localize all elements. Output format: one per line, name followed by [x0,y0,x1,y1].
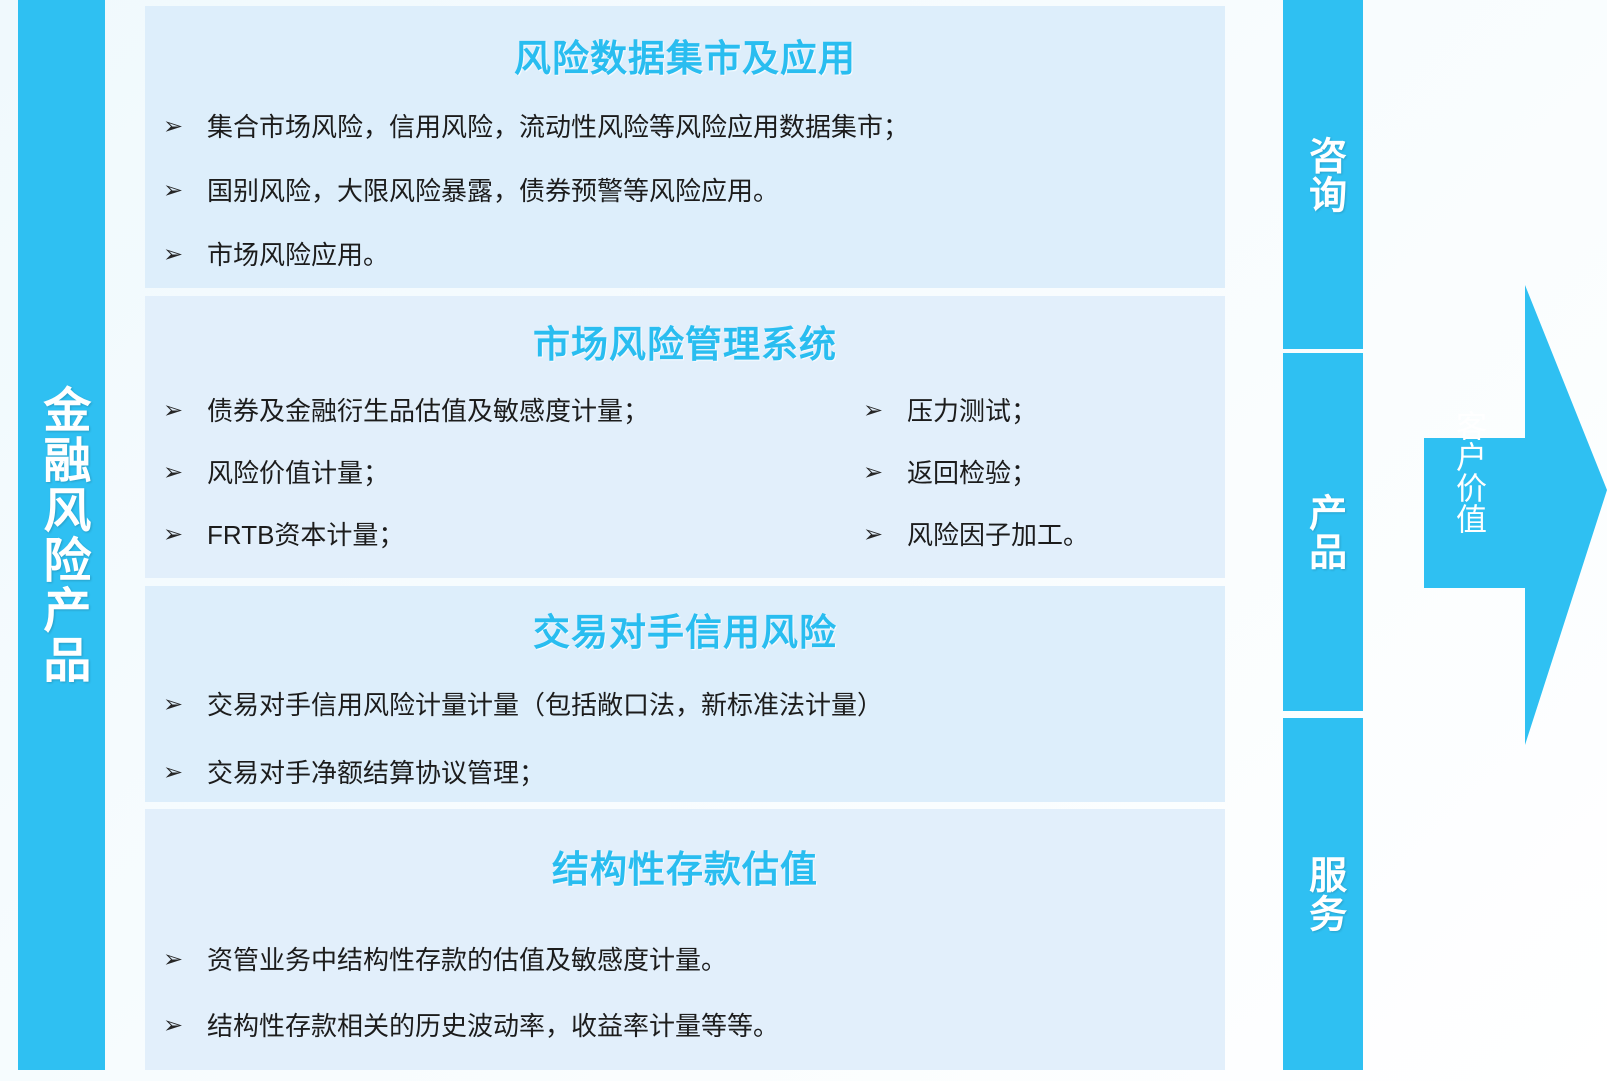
list-item[interactable]: ➢ 交易对手信用风险计量计量（包括敞口法，新标准法计量） [145,690,1225,721]
bullet-row: ➢ FRTB资本计量； ➢ 风险因子加工。 [145,520,1225,582]
bullet-row: ➢ 市场风险应用。 [145,240,1225,304]
section-title: 市场风险管理系统 [145,296,1225,368]
bullet-list: ➢ 资管业务中结构性存款的估值及敏感度计量。 ➢ 结构性存款相关的历史波动率，收… [145,945,1225,1077]
arrow-bullet-icon: ➢ [845,458,907,488]
arrow-bullet-icon: ➢ [145,176,207,206]
service-stage-service[interactable]: 服务 [1283,718,1363,1070]
left-category-bar-label: 金融风险产品 [34,385,90,685]
left-category-bar: 金融风险产品 [18,0,105,1070]
arrow-bullet-icon: ➢ [145,758,207,788]
section-panel-structured-deposit-valuation[interactable]: 结构性存款估值 ➢ 资管业务中结构性存款的估值及敏感度计量。 ➢ 结构性存款相关… [145,809,1225,1070]
bullet-list: ➢ 债券及金融衍生品估值及敏感度计量； ➢ 压力测试； ➢ 风险价值计量； ➢ [145,396,1225,582]
right-arrow-icon [1380,270,1607,760]
arrow-bullet-icon: ➢ [145,396,207,426]
list-item[interactable]: ➢ 交易对手净额结算协议管理； [145,758,1225,789]
arrow-bullet-icon: ➢ [145,520,207,550]
list-item[interactable]: ➢ 集合市场风险，信用风险，流动性风险等风险应用数据集市； [145,112,1225,143]
list-item[interactable]: ➢ FRTB资本计量； [145,520,845,551]
list-item-label: 风险因子加工。 [907,520,1225,551]
service-stage-label: 服务 [1301,855,1344,933]
list-item[interactable]: ➢ 风险因子加工。 [845,520,1225,551]
service-stage-label: 产品 [1301,493,1344,571]
slide-canvas: 金融风险产品 风险数据集市及应用 ➢ 集合市场风险，信用风险，流动性风险等风险应… [0,0,1607,1081]
section-panel-counterparty-credit-risk[interactable]: 交易对手信用风险 ➢ 交易对手信用风险计量计量（包括敞口法，新标准法计量） ➢ … [145,586,1225,802]
bullet-row: ➢ 资管业务中结构性存款的估值及敏感度计量。 [145,945,1225,1011]
arrow-bullet-icon: ➢ [845,396,907,426]
list-item-label: 压力测试； [907,396,1225,427]
service-stage-stack: 咨询 产品 服务 [1283,0,1363,1070]
list-item-label: 风险价值计量； [207,458,845,489]
bullet-row: ➢ 国别风险，大限风险暴露，债券预警等风险应用。 [145,176,1225,240]
list-item[interactable]: ➢ 返回检验； [845,458,1225,489]
section-title: 结构性存款估值 [145,809,1225,893]
section-panel-market-risk-system[interactable]: 市场风险管理系统 ➢ 债券及金融衍生品估值及敏感度计量； ➢ 压力测试； ➢ [145,296,1225,578]
bullet-list: ➢ 集合市场风险，信用风险，流动性风险等风险应用数据集市； ➢ 国别风险，大限风… [145,112,1225,304]
customer-value-arrow[interactable]: 客户价值 [1380,270,1607,760]
list-item-label: 债券及金融衍生品估值及敏感度计量； [207,396,845,427]
list-item-label: 交易对手信用风险计量计量（包括敞口法，新标准法计量） [207,690,1225,721]
list-item[interactable]: ➢ 市场风险应用。 [145,240,1225,271]
list-item-label: 结构性存款相关的历史波动率，收益率计量等等。 [207,1011,1225,1042]
list-item[interactable]: ➢ 资管业务中结构性存款的估值及敏感度计量。 [145,945,1225,976]
list-item-label: 返回检验； [907,458,1225,489]
bullet-list: ➢ 交易对手信用风险计量计量（包括敞口法，新标准法计量） ➢ 交易对手净额结算协… [145,690,1225,826]
arrow-bullet-icon: ➢ [145,690,207,720]
list-item-label: 市场风险应用。 [207,240,1225,271]
list-item[interactable]: ➢ 风险价值计量； [145,458,845,489]
list-item-label: 资管业务中结构性存款的估值及敏感度计量。 [207,945,1225,976]
bullet-row: ➢ 结构性存款相关的历史波动率，收益率计量等等。 [145,1011,1225,1077]
list-item[interactable]: ➢ 结构性存款相关的历史波动率，收益率计量等等。 [145,1011,1225,1042]
service-stage-label: 咨询 [1301,136,1344,214]
bullet-row: ➢ 债券及金融衍生品估值及敏感度计量； ➢ 压力测试； [145,396,1225,458]
service-stage-consulting[interactable]: 咨询 [1283,0,1363,349]
list-item-label: 集合市场风险，信用风险，流动性风险等风险应用数据集市； [207,112,1225,143]
list-item[interactable]: ➢ 国别风险，大限风险暴露，债券预警等风险应用。 [145,176,1225,207]
list-item-label: 交易对手净额结算协议管理； [207,758,1225,789]
section-title: 交易对手信用风险 [145,586,1225,656]
list-item-label: FRTB资本计量； [207,520,845,551]
section-panel-group: 风险数据集市及应用 ➢ 集合市场风险，信用风险，流动性风险等风险应用数据集市； … [145,6,1225,1070]
service-stage-product[interactable]: 产品 [1283,353,1363,711]
bullet-row: ➢ 交易对手信用风险计量计量（包括敞口法，新标准法计量） [145,690,1225,758]
customer-value-arrow-label: 客户价值 [1424,410,1488,534]
list-item-label: 国别风险，大限风险暴露，债券预警等风险应用。 [207,176,1225,207]
bullet-row: ➢ 集合市场风险，信用风险，流动性风险等风险应用数据集市； [145,112,1225,176]
list-item[interactable]: ➢ 压力测试； [845,396,1225,427]
arrow-bullet-icon: ➢ [145,240,207,270]
arrow-bullet-icon: ➢ [145,112,207,142]
list-item[interactable]: ➢ 债券及金融衍生品估值及敏感度计量； [145,396,845,427]
arrow-bullet-icon: ➢ [845,520,907,550]
section-panel-risk-data-mart[interactable]: 风险数据集市及应用 ➢ 集合市场风险，信用风险，流动性风险等风险应用数据集市； … [145,6,1225,288]
arrow-bullet-icon: ➢ [145,1011,207,1041]
arrow-bullet-icon: ➢ [145,945,207,975]
section-title: 风险数据集市及应用 [145,6,1225,82]
bullet-row: ➢ 风险价值计量； ➢ 返回检验； [145,458,1225,520]
arrow-bullet-icon: ➢ [145,458,207,488]
